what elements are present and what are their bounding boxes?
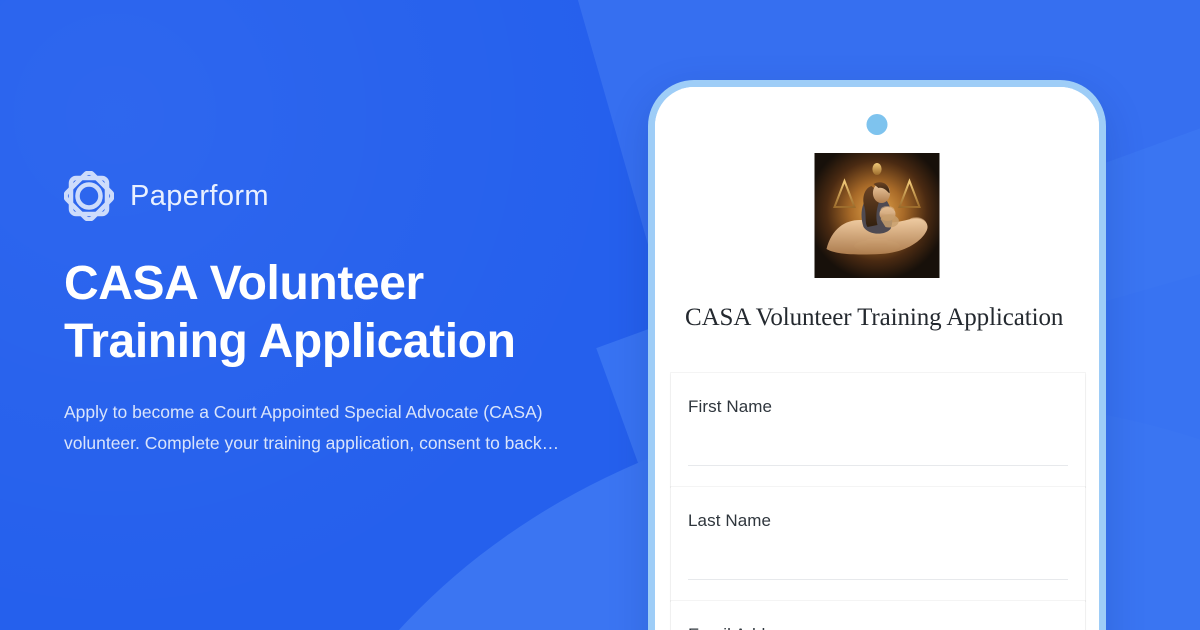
form-fields-list: First Name Last Name Email Address: [671, 373, 1085, 630]
paperform-star-logo-icon: [64, 171, 114, 221]
left-content-panel: Paperform CASA Volunteer Training Applic…: [64, 0, 624, 630]
brand-lockup: Paperform: [64, 171, 624, 221]
field-label: Last Name: [688, 511, 1068, 531]
field-label: Email Address: [688, 625, 1068, 630]
brand-name: Paperform: [130, 180, 269, 213]
last-name-input[interactable]: [688, 539, 1068, 579]
phone-screen: CASA Volunteer Training Application Firs…: [655, 87, 1099, 630]
camera-dot-icon: [867, 114, 888, 135]
phone-mockup: CASA Volunteer Training Application Firs…: [648, 80, 1106, 630]
social-share-card: Paperform CASA Volunteer Training Applic…: [0, 0, 1200, 630]
form-hero-image: [815, 153, 940, 278]
form-title: CASA Volunteer Training Application: [685, 303, 1085, 333]
page-title: CASA Volunteer Training Application: [64, 255, 584, 371]
first-name-input[interactable]: [688, 425, 1068, 465]
form-field-email-address[interactable]: Email Address: [671, 601, 1085, 630]
field-underline: [688, 465, 1068, 466]
field-underline: [688, 579, 1068, 580]
field-label: First Name: [688, 397, 1068, 417]
form-field-first-name[interactable]: First Name: [671, 373, 1085, 487]
form-field-last-name[interactable]: Last Name: [671, 487, 1085, 601]
page-description: Apply to become a Court Appointed Specia…: [64, 397, 584, 458]
